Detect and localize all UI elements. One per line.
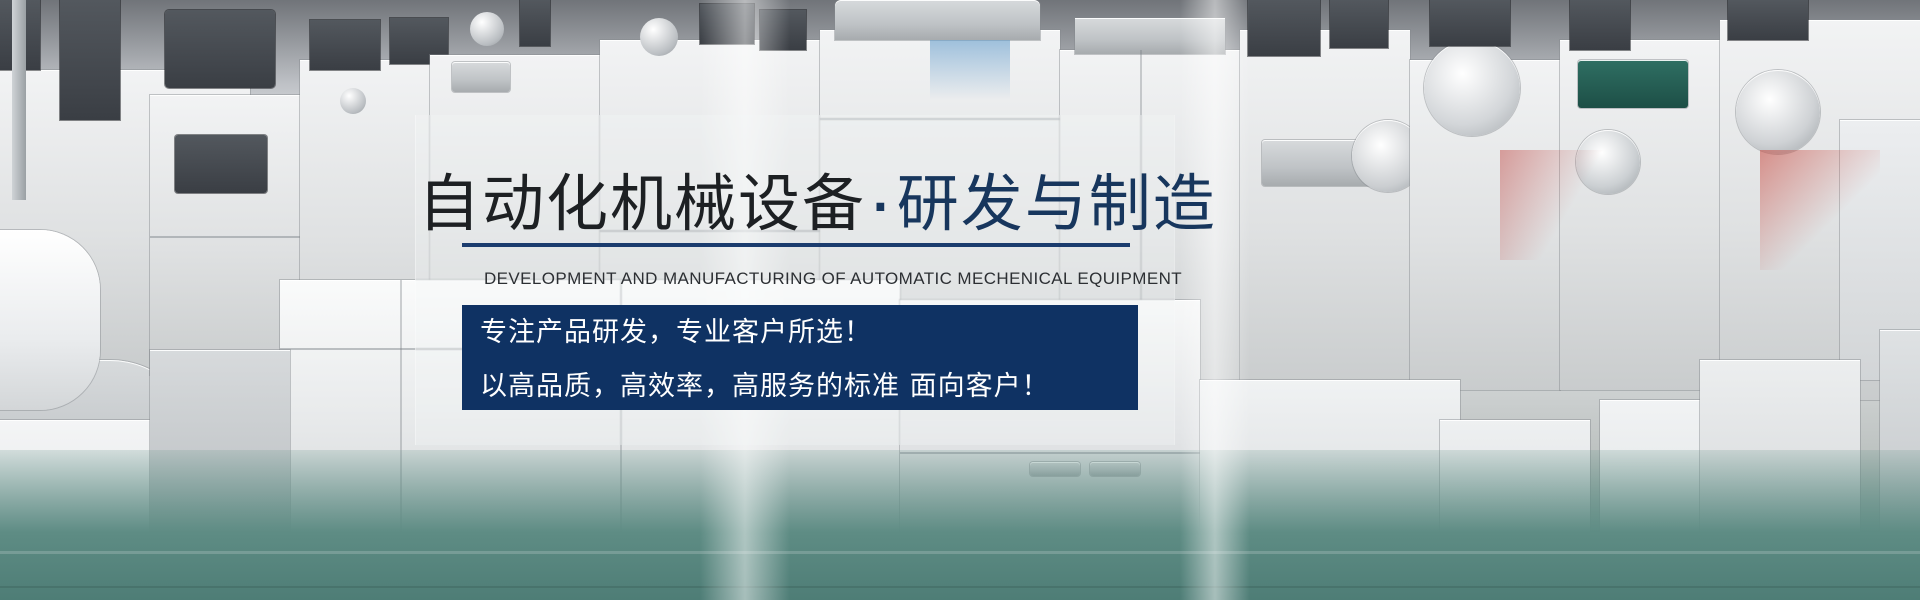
tank-unit <box>0 230 100 410</box>
machine-panel <box>452 62 510 92</box>
headline-primary: 自动化机械设备 <box>418 167 866 240</box>
page-title: 自动化机械设备·研发与制造 <box>418 168 1188 240</box>
machine-wheel <box>1424 40 1520 136</box>
machine-control-box <box>1330 0 1388 48</box>
callout-line-1: 专注产品研发，专业客户所选！ <box>480 318 872 348</box>
machine-wheel <box>1736 70 1820 154</box>
cable <box>12 0 26 200</box>
machine-unit <box>1240 30 1410 390</box>
light-reflection <box>1180 0 1250 600</box>
machine-unit <box>520 0 550 46</box>
machine-control-box <box>1248 0 1320 56</box>
machine-control-box <box>165 10 275 88</box>
machine-control-box <box>175 135 267 193</box>
machine-dial <box>470 12 504 46</box>
machine-dial <box>640 18 678 56</box>
headline-accent: 研发与制造 <box>897 167 1217 240</box>
title-divider <box>462 243 1130 247</box>
machine-hood <box>835 0 1040 40</box>
floor-marking <box>0 551 1920 554</box>
machine-unit <box>60 0 120 120</box>
panel-seam <box>150 236 325 238</box>
machine-control-box <box>1430 0 1510 46</box>
machine-dial <box>340 88 366 114</box>
floor-marking <box>0 586 1920 588</box>
page-subtitle: DEVELOPMENT AND MANUFACTURING OF AUTOMAT… <box>484 268 1184 290</box>
callout-line-2: 以高品质，高效率，高服务的标准 面向客户！ <box>480 372 1050 402</box>
cable-bundle <box>1500 150 1610 260</box>
machine-control-box <box>310 20 380 70</box>
machine-screen <box>1578 60 1688 108</box>
machine-control-box <box>1728 0 1808 40</box>
cable-bundle <box>930 40 1010 100</box>
machine-control-box <box>1570 0 1630 50</box>
factory-floor <box>0 450 1920 600</box>
headline-separator: · <box>866 182 897 233</box>
hero-banner: 自动化机械设备·研发与制造 DEVELOPMENT AND MANUFACTUR… <box>0 0 1920 600</box>
cable-bundle <box>1760 150 1880 270</box>
